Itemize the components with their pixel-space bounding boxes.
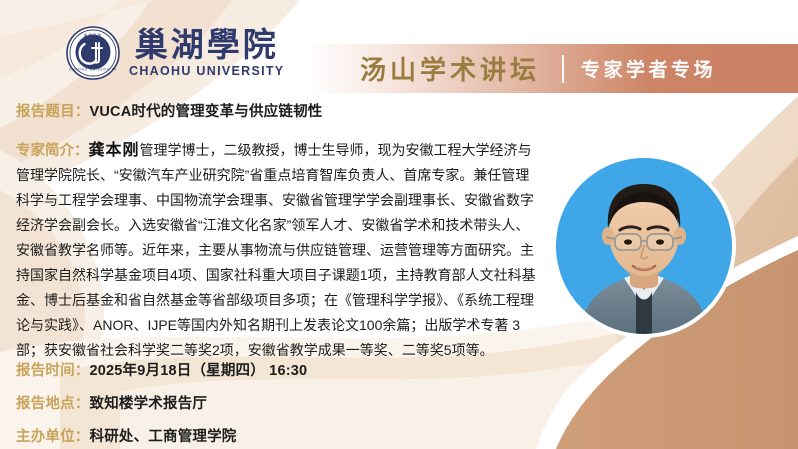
lecture-title-value: VUCA时代的管理变革与供应链韧性 [90,100,323,121]
lecture-organizer-value: 科研处、工商管理学院 [90,425,237,446]
lecture-time-label: 报告时间： [16,359,90,380]
lecture-time-row: 报告时间： 2025年9月18日（星期四） 16:30 [16,359,307,380]
speaker-bio-block: 专家简介：龚本刚管理学博士，二级教授，博士生导师，现为安徽工程大学经济与管理学院… [16,136,536,363]
speaker-bio-label: 专家简介： [16,143,89,159]
lecture-organizer-row: 主办单位： 科研处、工商管理学院 [16,425,237,446]
lecture-place-label: 报告地点： [16,392,90,413]
speaker-portrait [556,158,732,334]
speaker-name: 龚本刚 [89,142,140,159]
lecture-place-row: 报告地点： 致知楼学术报告厅 [16,392,207,413]
lecture-title-label: 报告题目： [16,100,90,121]
speaker-bio-text: 管理学博士，二级教授，博士生导师，现为安徽工程大学经济与管理学院院长、“安徽汽车… [16,142,536,358]
lecture-title-row: 报告题目： VUCA时代的管理变革与供应链韧性 [16,100,323,121]
lecture-poster: CHAOHU UNIVERSITY 巢湖學院 巢湖學院 CHAOHU UNIVE… [0,0,798,449]
lecture-time-value: 2025年9月18日（星期四） 16:30 [90,359,308,380]
lecture-organizer-label: 主办单位： [16,425,90,446]
lecture-place-value: 致知楼学术报告厅 [90,392,208,413]
